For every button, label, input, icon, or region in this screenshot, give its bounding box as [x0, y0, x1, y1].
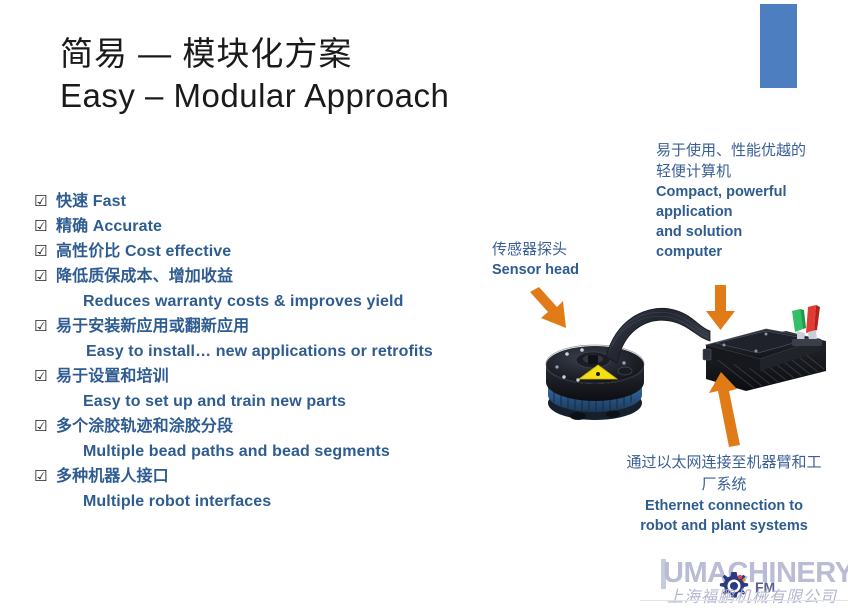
- bullet-label: Multiple robot interfaces: [56, 490, 504, 513]
- callout-ethernet-english-line2: robot and plant systems: [608, 516, 840, 536]
- callout-computer-chinese-line1: 易于使用、性能优越的: [656, 140, 836, 161]
- bullet-item: ☑精确 Accurate: [34, 215, 504, 239]
- product-photo: [520, 285, 840, 450]
- bullet-label: 高性价比 Cost effective: [56, 240, 504, 263]
- bullet-item: ☑降低质保成本、增加收益: [34, 265, 504, 289]
- checkbox-icon: ☑: [34, 215, 56, 238]
- callout-computer-chinese-line2: 轻便计算机: [656, 161, 836, 182]
- callout-computer-english-line2: application: [656, 202, 836, 222]
- solution-computer-device: [703, 305, 826, 391]
- bullet-label: 易于设置和培训: [56, 365, 504, 388]
- footer-divider: [640, 600, 848, 601]
- bullet-item: ☑易于设置和培训: [34, 365, 504, 389]
- bullet-continuation-line: Easy to set up and train new parts: [34, 390, 504, 414]
- bullet-label: 多种机器人接口: [56, 465, 504, 488]
- slide-title: 简易 — 模块化方案 Easy – Modular Approach: [60, 34, 700, 118]
- feature-bullet-list: ☑快速 Fast☑精确 Accurate☑高性价比 Cost effective…: [34, 190, 504, 515]
- bullet-label: 快速 Fast: [56, 190, 504, 213]
- bullet-label: Multiple bead paths and bead segments: [56, 440, 504, 463]
- bullet-item: ☑多种机器人接口: [34, 465, 504, 489]
- callout-sensor-head-english: Sensor head: [492, 260, 632, 280]
- bullet-label: Easy to set up and train new parts: [56, 390, 504, 413]
- callout-computer-english-line1: Compact, powerful: [656, 182, 836, 202]
- checkbox-icon: ☑: [34, 190, 56, 213]
- bullet-continuation-line: Multiple robot interfaces: [34, 490, 504, 514]
- bullet-label: Easy to install… new applications or ret…: [56, 340, 504, 363]
- checkbox-icon: ☑: [34, 315, 56, 338]
- callout-sensor-head-chinese: 传感器探头: [492, 240, 632, 260]
- bullet-item: ☑快速 Fast: [34, 190, 504, 214]
- bullet-label: 多个涂胶轨迹和涂胶分段: [56, 415, 504, 438]
- bullet-label: 降低质保成本、增加收益: [56, 265, 504, 288]
- checkbox-icon: ☑: [34, 465, 56, 488]
- bullet-label: 精确 Accurate: [56, 215, 504, 238]
- bullet-item: ☑多个涂胶轨迹和涂胶分段: [34, 415, 504, 439]
- logo-company-chinese: 上海福鹏机械有限公司: [667, 583, 837, 607]
- callout-computer-english-line4: computer: [656, 242, 836, 262]
- bullet-continuation-line: Multiple bead paths and bead segments: [34, 440, 504, 464]
- callout-ethernet-chinese-line2: 厂系统: [608, 474, 840, 496]
- slide-canvas: 简易 — 模块化方案 Easy – Modular Approach ☑快速 F…: [0, 0, 848, 616]
- callout-ethernet-english-line1: Ethernet connection to: [608, 496, 840, 516]
- title-chinese: 简易 — 模块化方案: [60, 34, 700, 74]
- bullet-item: ☑高性价比 Cost effective: [34, 240, 504, 264]
- title-english: Easy – Modular Approach: [60, 74, 700, 118]
- connector-green: [792, 309, 806, 332]
- checkbox-icon: ☑: [34, 265, 56, 288]
- bullet-label: 易于安装新应用或翻新应用: [56, 315, 504, 338]
- callout-sensor-head: 传感器探头 Sensor head: [492, 240, 632, 280]
- bullet-continuation-line: Easy to install… new applications or ret…: [34, 340, 504, 364]
- checkbox-icon: ☑: [34, 365, 56, 388]
- bullet-item: ☑易于安装新应用或翻新应用: [34, 315, 504, 339]
- checkbox-icon: ☑: [34, 415, 56, 438]
- sensor-head-device: [546, 345, 644, 420]
- connector-red: [806, 305, 820, 333]
- bullet-label: Reduces warranty costs & improves yield: [56, 290, 504, 313]
- accent-block-top-right: [760, 4, 797, 88]
- callout-ethernet-chinese-line1: 通过以太网连接至机器臂和工: [608, 452, 840, 474]
- checkbox-icon: ☑: [34, 240, 56, 263]
- callout-computer-english-line3: and solution: [656, 222, 836, 242]
- callout-computer: 易于使用、性能优越的 轻便计算机 Compact, powerful appli…: [656, 140, 836, 262]
- callout-ethernet: 通过以太网连接至机器臂和工 厂系统 Ethernet connection to…: [608, 452, 840, 536]
- bullet-continuation-line: Reduces warranty costs & improves yield: [34, 290, 504, 314]
